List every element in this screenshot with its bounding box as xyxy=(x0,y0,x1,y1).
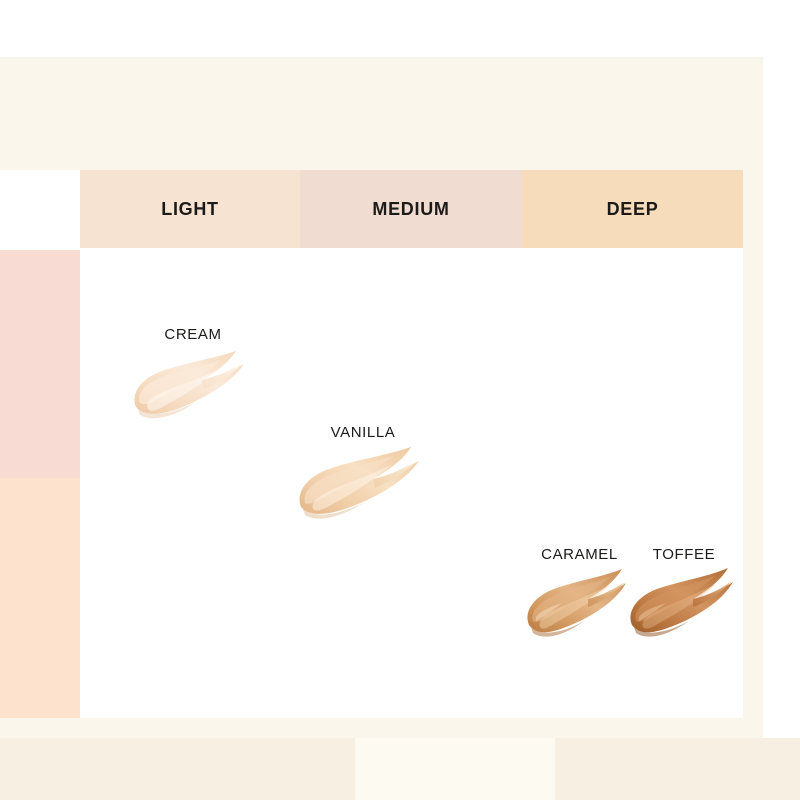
header-label-deep: DEEP xyxy=(607,199,659,220)
swatch-smear-toffee xyxy=(625,565,743,653)
header-label-medium: MEDIUM xyxy=(372,199,449,220)
shade-family-header-row: LIGHT MEDIUM DEEP xyxy=(80,170,743,248)
swatch-group-caramel[interactable]: CARAMEL xyxy=(522,546,637,653)
footer-band-middle xyxy=(355,738,555,800)
swatch-group-toffee[interactable]: TOFFEE xyxy=(625,546,743,653)
swatch-smear-cream xyxy=(128,345,258,435)
shade-chart-page: LIGHT MEDIUM DEEP CREAM xyxy=(0,0,800,800)
header-label-light: LIGHT xyxy=(161,199,219,220)
side-strip-white xyxy=(0,170,80,250)
side-strip-pink xyxy=(0,250,80,478)
swatch-label-toffee: TOFFEE xyxy=(625,546,743,563)
swatch-smear-caramel xyxy=(522,565,637,653)
header-column-light[interactable]: LIGHT xyxy=(80,170,300,248)
footer-band-left xyxy=(0,738,355,800)
header-column-deep[interactable]: DEEP xyxy=(522,170,743,248)
swatch-smear-vanilla xyxy=(293,443,433,535)
swatch-group-cream[interactable]: CREAM xyxy=(128,326,258,435)
footer-band-right xyxy=(555,738,800,800)
side-strip-peach xyxy=(0,478,80,718)
swatch-label-caramel: CARAMEL xyxy=(522,546,637,563)
swatch-label-cream: CREAM xyxy=(128,326,258,343)
swatch-label-vanilla: VANILLA xyxy=(293,424,433,441)
swatch-group-vanilla[interactable]: VANILLA xyxy=(293,424,433,535)
header-column-medium[interactable]: MEDIUM xyxy=(300,170,522,248)
